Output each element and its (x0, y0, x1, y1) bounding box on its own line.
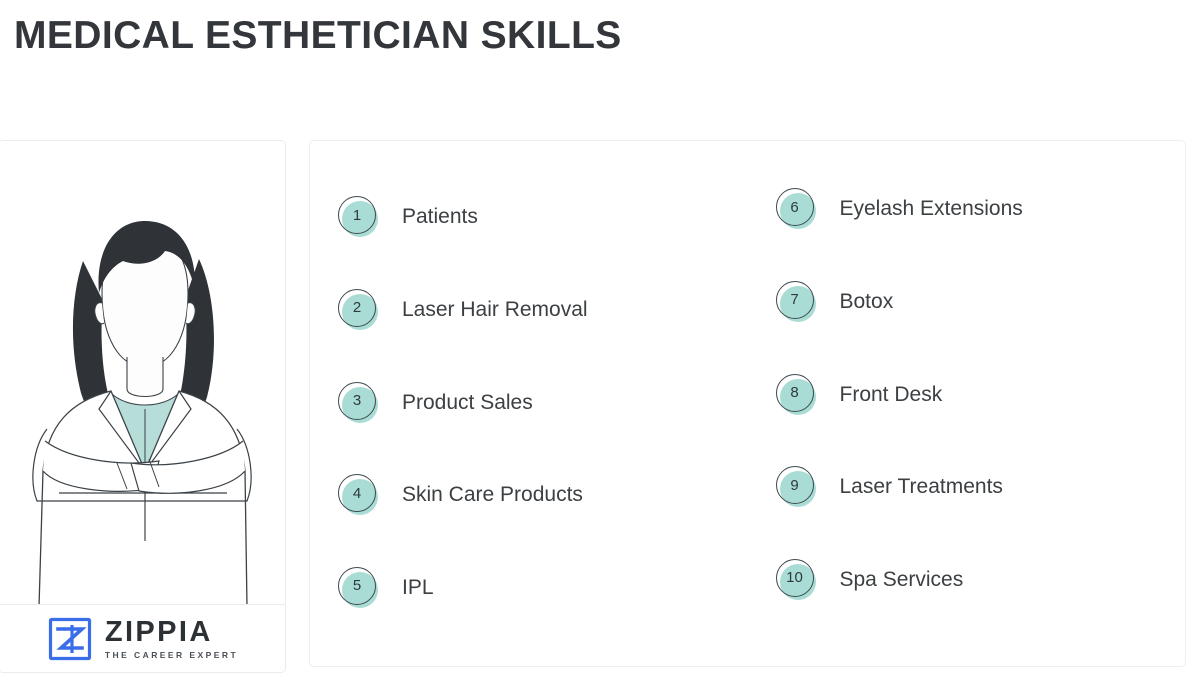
skill-item: 2 Laser Hair Removal (338, 264, 748, 357)
skill-item: 6 Eyelash Extensions (776, 163, 1186, 256)
skill-number: 3 (338, 382, 376, 420)
skill-number-badge: 7 (776, 281, 818, 323)
skill-number-badge: 3 (338, 382, 380, 424)
skill-label: Eyelash Extensions (840, 197, 1023, 221)
skill-label: Laser Treatments (840, 475, 1003, 499)
skill-number: 2 (338, 289, 376, 327)
skill-number: 10 (776, 559, 814, 597)
zippia-wordmark: ZIPPIA (105, 618, 213, 647)
skill-item: 7 Botox (776, 256, 1186, 349)
skill-number-badge: 2 (338, 289, 380, 331)
skill-number-badge: 10 (776, 559, 818, 601)
skills-column-right: 6 Eyelash Extensions 7 Botox 8 (748, 141, 1186, 666)
skill-number-badge: 5 (338, 567, 380, 609)
skill-item: 9 Laser Treatments (776, 441, 1186, 534)
skill-number-badge: 4 (338, 474, 380, 516)
skill-number: 7 (776, 281, 814, 319)
skill-item: 1 Patients (338, 171, 748, 264)
skill-number: 6 (776, 188, 814, 226)
skills-grid: 1 Patients 2 Laser Hair Removal 3 (310, 141, 1185, 666)
skill-label: Front Desk (840, 383, 943, 407)
skill-item: 10 Spa Services (776, 533, 1186, 626)
skill-label: Product Sales (402, 391, 533, 415)
skill-number-badge: 8 (776, 374, 818, 416)
skill-number-badge: 1 (338, 196, 380, 238)
skill-label: Patients (402, 205, 478, 229)
skill-label: IPL (402, 576, 434, 600)
skill-number: 1 (338, 196, 376, 234)
infographic-page: MEDICAL ESTHETICIAN SKILLS (0, 0, 1200, 675)
skills-column-left: 1 Patients 2 Laser Hair Removal 3 (310, 141, 748, 666)
skill-label: Skin Care Products (402, 483, 583, 507)
skill-label: Laser Hair Removal (402, 298, 588, 322)
skill-number: 5 (338, 567, 376, 605)
skill-item: 3 Product Sales (338, 356, 748, 449)
skill-number-badge: 9 (776, 466, 818, 508)
skill-number: 4 (338, 474, 376, 512)
skill-number: 8 (776, 374, 814, 412)
skill-label: Spa Services (840, 568, 964, 592)
page-title: MEDICAL ESTHETICIAN SKILLS (14, 14, 622, 58)
illustration-card: ZIPPIA THE CAREER EXPERT (0, 140, 286, 673)
skill-item: 5 IPL (338, 541, 748, 634)
zippia-tagline: THE CAREER EXPERT (105, 651, 238, 660)
skill-label: Botox (840, 290, 894, 314)
skill-item: 4 Skin Care Products (338, 449, 748, 542)
medical-esthetician-illustration (0, 141, 286, 607)
skill-item: 8 Front Desk (776, 348, 1186, 441)
zippia-logo: ZIPPIA THE CAREER EXPERT (0, 604, 286, 672)
skill-number: 9 (776, 466, 814, 504)
skills-panel: 1 Patients 2 Laser Hair Removal 3 (309, 140, 1186, 667)
skill-number-badge: 6 (776, 188, 818, 230)
zippia-z-mark-icon (48, 617, 92, 661)
